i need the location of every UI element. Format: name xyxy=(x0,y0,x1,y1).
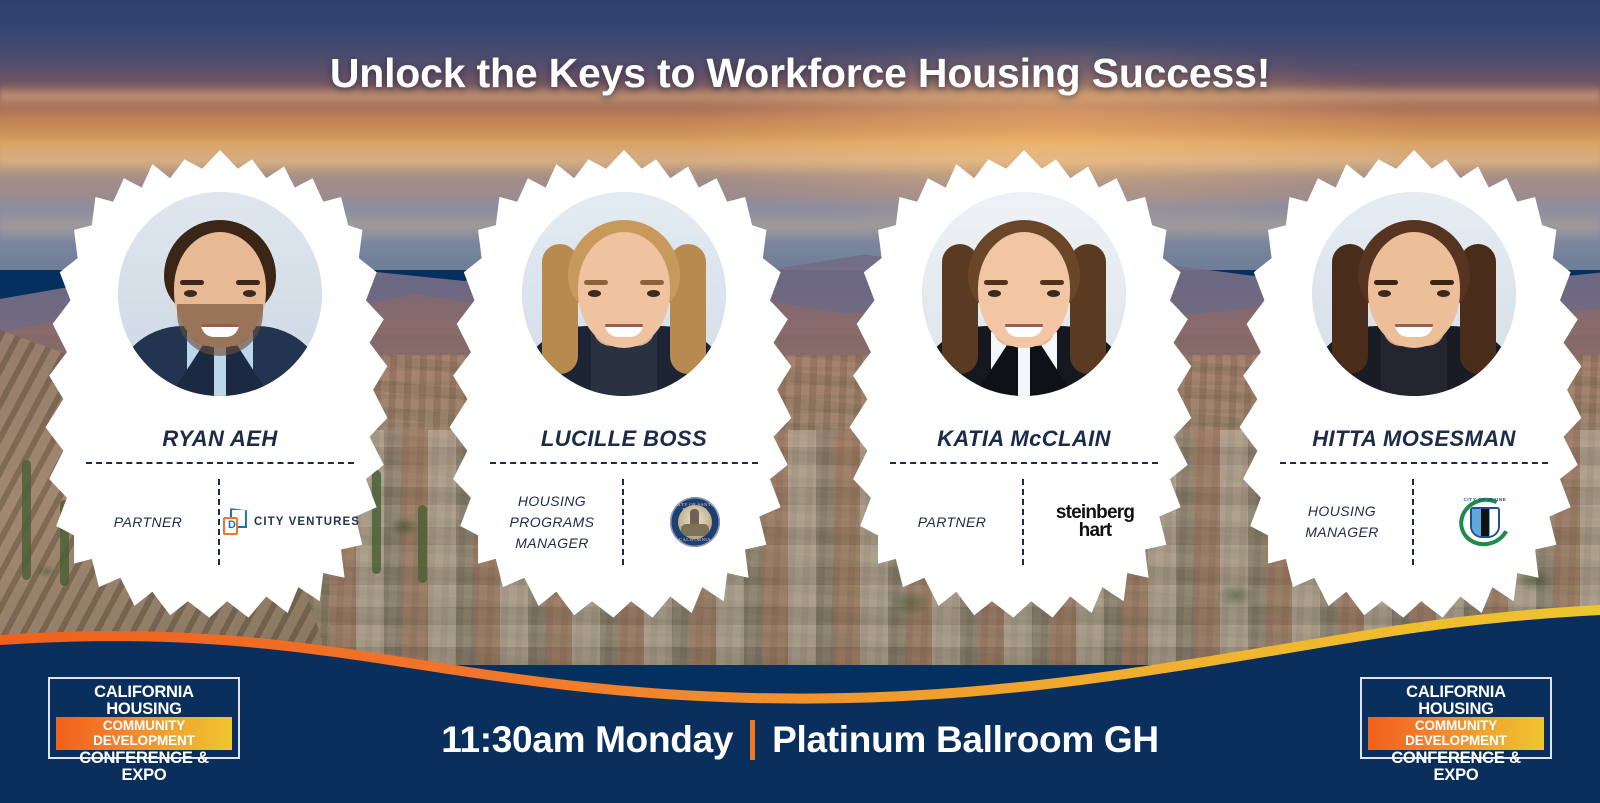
logo-line-1: CALIFORNIA HOUSING xyxy=(1368,684,1544,717)
speaker-card: HITTA MOSESMAN HOUSING MANAGER CITY OF I… xyxy=(1236,150,1592,620)
speaker-meta: PARTNER CITY VENTURES xyxy=(78,474,362,570)
avatar xyxy=(1312,192,1516,396)
speaker-name: LUCILLE BOSS xyxy=(446,426,802,452)
city-ventures-logo xyxy=(222,508,248,536)
card-divider xyxy=(490,462,758,464)
seal-bottom-text: CALIFORNIA xyxy=(670,537,720,542)
seal-text: CITY OF IRVINE xyxy=(1459,497,1511,502)
speaker-meta: HOUSING PROGRAMS MANAGER CITY OF SANTA B… xyxy=(482,474,766,570)
organization-logo: steinberg hart xyxy=(1024,479,1166,565)
avatar xyxy=(522,192,726,396)
city-of-irvine-seal: CITY OF IRVINE xyxy=(1459,498,1511,546)
footer-bar: CALIFORNIA HOUSING COMMUNITY DEVELOPMENT… xyxy=(0,663,1600,803)
speaker-role: PARTNER xyxy=(882,512,1022,533)
speaker-meta: HOUSING MANAGER CITY OF IRVINE xyxy=(1272,474,1556,570)
logo-line-1: CALIFORNIA HOUSING xyxy=(56,684,232,717)
speaker-role: HOUSING PROGRAMS MANAGER xyxy=(482,491,622,554)
separator-bar xyxy=(750,720,755,760)
speaker-card: KATIA McCLAIN PARTNER steinberg hart xyxy=(846,150,1202,620)
organization-logo: CITY OF SANTA BARBARA CALIFORNIA xyxy=(624,479,766,565)
speaker-meta: PARTNER steinberg hart xyxy=(882,474,1166,570)
city-of-santa-barbara-seal: CITY OF SANTA BARBARA CALIFORNIA xyxy=(670,497,720,547)
speaker-card-list: RYAN AEH PARTNER CITY VENTURES xyxy=(0,150,1600,640)
avatar xyxy=(922,192,1126,396)
page-title: Unlock the Keys to Workforce Housing Suc… xyxy=(0,50,1600,97)
conference-logo-right: CALIFORNIA HOUSING COMMUNITY DEVELOPMENT… xyxy=(1360,677,1552,759)
card-divider xyxy=(86,462,354,464)
logo-line-2: hart xyxy=(1056,522,1134,540)
organization-logo: CITY OF IRVINE xyxy=(1414,479,1556,565)
speaker-role: HOUSING MANAGER xyxy=(1272,501,1412,543)
speaker-name: HITTA MOSESMAN xyxy=(1236,426,1592,452)
organization-logo: CITY VENTURES xyxy=(220,479,362,565)
session-location: Platinum Ballroom GH xyxy=(772,719,1159,761)
speaker-role: PARTNER xyxy=(78,512,218,533)
session-time: 11:30am Monday xyxy=(441,719,733,761)
logo-line-3: CONFERENCE & EXPO xyxy=(1368,750,1544,783)
speaker-card: RYAN AEH PARTNER CITY VENTURES xyxy=(42,150,398,620)
event-banner: Unlock the Keys to Workforce Housing Suc… xyxy=(0,0,1600,803)
speaker-name: RYAN AEH xyxy=(42,426,398,452)
card-divider xyxy=(1280,462,1548,464)
logo-line-2: COMMUNITY DEVELOPMENT xyxy=(1368,717,1544,750)
speaker-card: LUCILLE BOSS HOUSING PROGRAMS MANAGER CI… xyxy=(446,150,802,620)
speaker-name: KATIA McCLAIN xyxy=(846,426,1202,452)
organization-name: CITY VENTURES xyxy=(254,516,360,528)
avatar xyxy=(118,192,322,396)
steinberg-hart-logo: steinberg hart xyxy=(1056,504,1134,540)
card-divider xyxy=(890,462,1158,464)
